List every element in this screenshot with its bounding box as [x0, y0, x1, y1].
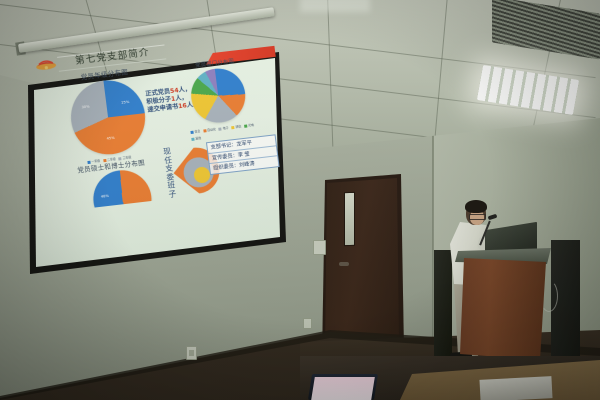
pie-3-slice-label-1: 48%: [101, 194, 109, 199]
foreground-laptop-screen: [311, 377, 375, 400]
table-papers: [479, 376, 552, 400]
committee-table: 支部书记：龙军平 宣传委员：李 莹 组织委员：刘峰涛: [206, 134, 280, 175]
pie-chart-grade-distribution: 25% 45% 30%: [67, 76, 150, 158]
pie-2-legend-item-5: 其他: [191, 136, 201, 141]
podium-cable: [540, 280, 558, 312]
wall-power-outlet-secondary: [303, 318, 312, 329]
presentation-slide: 第七党支部简介 党员年级分布图 25% 45% 30% 一年级 二年级 三年级 …: [30, 30, 292, 213]
ceiling-light-secondary: [300, 0, 370, 12]
pie-2-legend-item-2: 电子: [219, 126, 229, 131]
pie-2-legend-item-4: 光电: [244, 123, 254, 128]
presenter-hair: [465, 200, 487, 213]
wall-power-outlet: [186, 346, 197, 360]
pie-1-slice-label-0: 25%: [121, 100, 129, 105]
pie-2-legend-item-3: 通信: [231, 124, 241, 129]
door-handle[interactable]: [339, 262, 349, 266]
chart-2-caption: 党员部门分布图: [195, 58, 235, 69]
wooden-podium: [460, 258, 546, 360]
conference-room-photo: 第七党支部简介 党员年级分布图 25% 45% 30% 一年级 二年级 三年级 …: [0, 0, 600, 400]
door-viewport-window: [344, 192, 355, 246]
speaker-cabinet-left: [434, 250, 452, 365]
chart-1-caption: 党员年级分布图: [80, 67, 128, 81]
presenter-glasses: [469, 214, 486, 220]
pie-1-slice-label-1: 45%: [106, 136, 114, 141]
party-emblem-logo: [34, 57, 57, 72]
pie-chart-department-distribution: [188, 66, 248, 126]
pie-1-slice-label-2: 30%: [81, 104, 89, 109]
wall-light-switch[interactable]: [313, 240, 326, 255]
pie-2-legend-item-1: 自动化: [203, 127, 216, 132]
pie-2-legend-item-0: 信息: [190, 129, 200, 134]
room-door[interactable]: [325, 178, 399, 354]
